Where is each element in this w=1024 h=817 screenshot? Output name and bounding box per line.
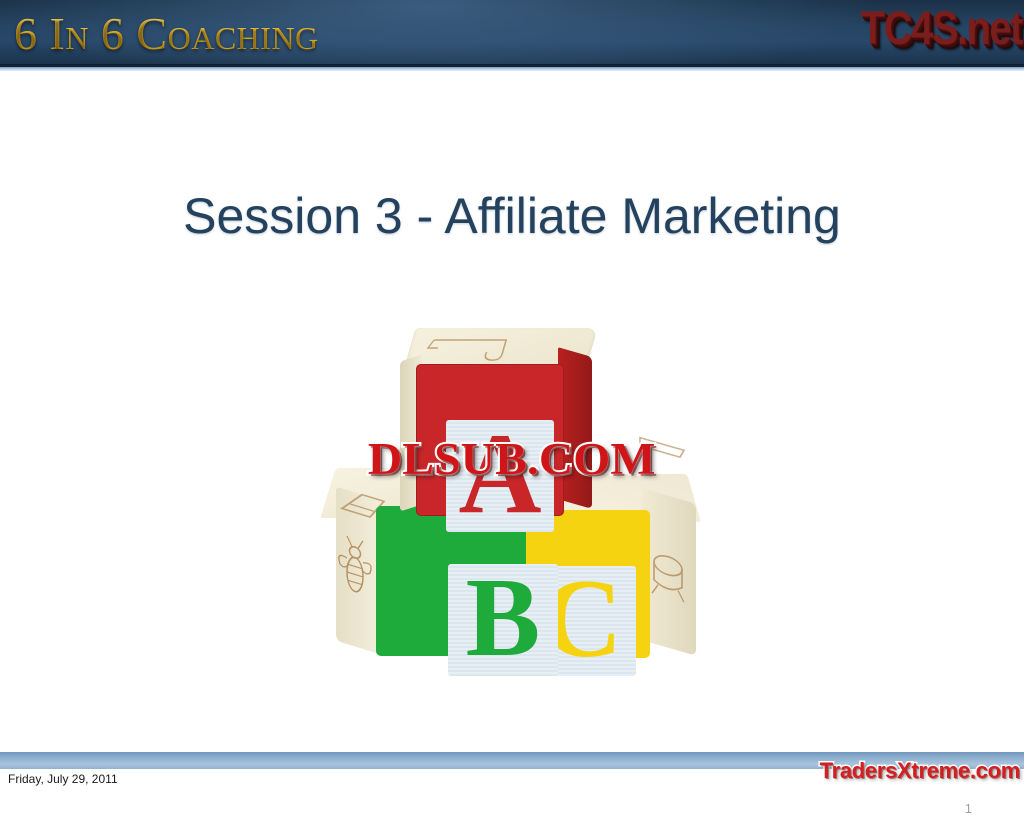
block-a-front-face: A [416,364,564,516]
block-a: A [406,328,596,520]
slide-title: Session 3 - Affiliate Marketing [0,186,1024,246]
tradersxtreme-logo: TradersXtreme.com [820,757,1020,785]
doodle-letter-j-icon [421,334,522,364]
header-banner: 6 In 6 Coaching TC4S.net [0,0,1024,67]
page-number: 1 [965,801,972,817]
doodle-drum-icon [648,542,688,607]
tc4s-brand-logo: TC4S.net [861,0,1022,59]
course-title: 6 In 6 Coaching [14,6,319,62]
block-a-letter-panel: A [446,420,554,532]
abc-blocks-illustration: C [322,316,702,676]
block-c-right-face [642,488,696,655]
doodle-bee-icon [338,531,372,601]
slide-body: Session 3 - Affiliate Marketing C [0,71,1024,752]
block-b-letter: B [466,562,541,674]
footer-date: Friday, July 29, 2011 [8,771,118,787]
block-b-letter-panel: B [448,564,558,676]
doodle-letter-l-icon [636,433,690,474]
block-a-letter: A [458,416,541,531]
